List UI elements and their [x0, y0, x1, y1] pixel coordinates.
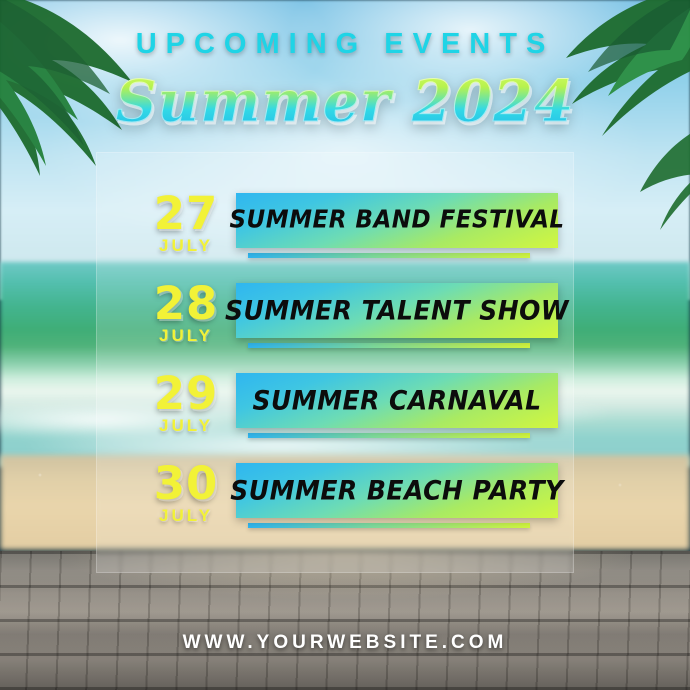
event-bar[interactable]: SUMMER BAND FESTIVAL — [236, 193, 558, 248]
website-url[interactable]: WWW.YOURWEBSITE.COM — [0, 632, 690, 654]
event-day: 28 — [142, 284, 230, 324]
event-bar-wrap: SUMMER BEACH PARTY — [236, 463, 558, 528]
event-bar-wrap: SUMMER BAND FESTIVAL — [236, 193, 558, 258]
page-title: Summer 2024 — [0, 68, 690, 135]
event-bar-wrap: SUMMER TALENT SHOW — [236, 283, 558, 348]
event-underline — [248, 433, 530, 438]
list-item[interactable]: 28 JULY SUMMER TALENT SHOW — [96, 270, 572, 360]
list-item[interactable]: 27 JULY SUMMER BAND FESTIVAL — [96, 180, 572, 270]
event-day: 30 — [142, 464, 230, 504]
event-bar[interactable]: SUMMER TALENT SHOW — [236, 283, 558, 338]
event-name: SUMMER TALENT SHOW — [225, 294, 569, 325]
event-day: 27 — [142, 194, 230, 234]
event-list: 27 JULY SUMMER BAND FESTIVAL 28 JULY SUM… — [96, 180, 572, 540]
event-date: 29 JULY — [142, 374, 230, 436]
event-underline — [248, 253, 530, 258]
page-kicker: UPCOMING EVENTS — [0, 28, 690, 61]
event-day: 29 — [142, 374, 230, 414]
event-bar[interactable]: SUMMER CARNAVAL — [236, 373, 558, 428]
event-date: 28 JULY — [142, 284, 230, 346]
list-item[interactable]: 30 JULY SUMMER BEACH PARTY — [96, 450, 572, 540]
list-item[interactable]: 29 JULY SUMMER CARNAVAL — [96, 360, 572, 450]
event-date: 27 JULY — [142, 194, 230, 256]
event-date: 30 JULY — [142, 464, 230, 526]
event-name: SUMMER BAND FESTIVAL — [229, 206, 564, 234]
event-name: SUMMER BEACH PARTY — [230, 474, 563, 505]
event-underline — [248, 523, 530, 528]
poster-canvas: UPCOMING EVENTS Summer 2024 27 JULY SUMM… — [0, 0, 690, 690]
event-name: SUMMER CARNAVAL — [252, 384, 541, 415]
event-underline — [248, 343, 530, 348]
event-bar-wrap: SUMMER CARNAVAL — [236, 373, 558, 438]
event-bar[interactable]: SUMMER BEACH PARTY — [236, 463, 558, 518]
